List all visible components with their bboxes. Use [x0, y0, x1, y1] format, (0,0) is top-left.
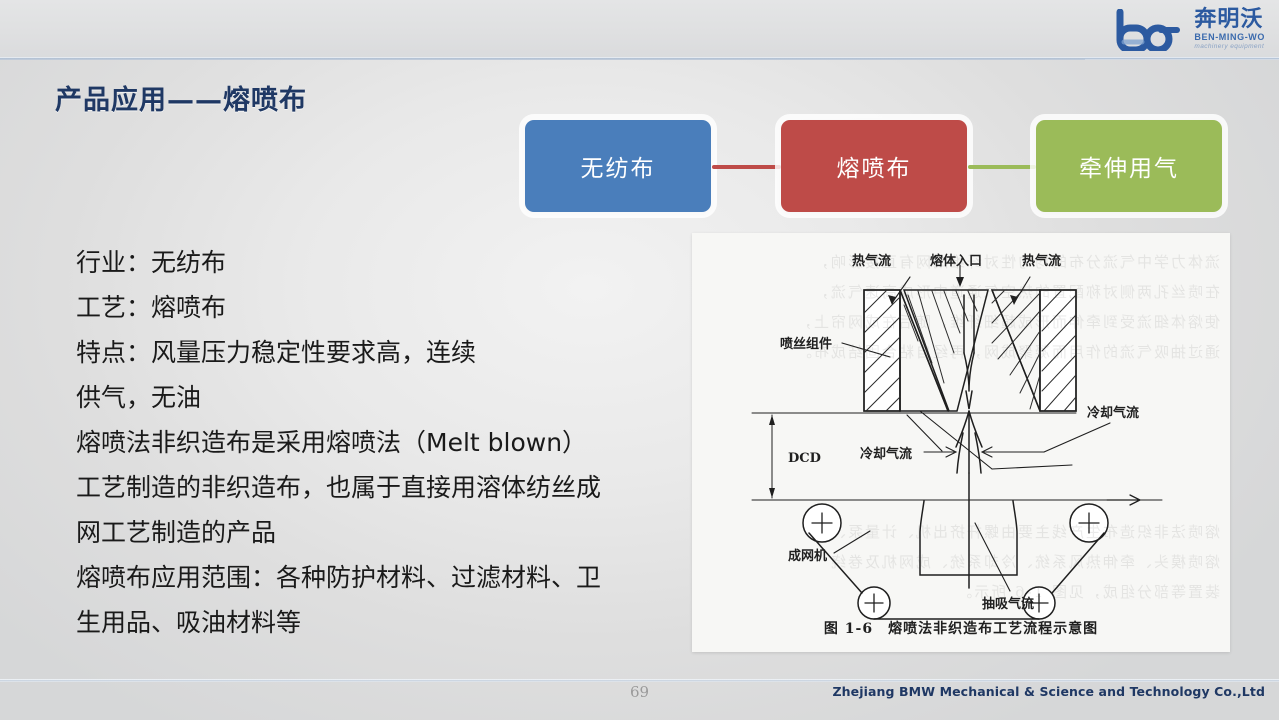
body-line: 熔喷法非织造布是采用熔喷法（Melt blown）	[76, 420, 676, 465]
logo-english-name: BEN-MING-WO	[1194, 33, 1265, 42]
label-spinneret: 喷丝组件	[780, 336, 832, 352]
body-line: 工艺制造的非织造布，也属于直接用溶体纺丝成	[76, 465, 676, 510]
label-cooling-air-left: 冷却气流	[860, 446, 912, 462]
company-name: Zhejiang BMW Mechanical & Science and Te…	[833, 684, 1265, 699]
footer-divider	[0, 679, 1279, 682]
process-flow-diagram: 无纺布 熔喷布 牵伸用气	[525, 120, 1225, 215]
body-line: 熔喷布应用范围：各种防护材料、过滤材料、卫	[76, 555, 676, 600]
body-line: 供气，无油	[76, 375, 676, 420]
logo-chinese-name: 奔明沃	[1194, 9, 1265, 31]
label-suction-air: 抽吸气流	[982, 596, 1034, 612]
flow-connector-2	[968, 165, 1036, 169]
flow-connector-1	[712, 165, 781, 169]
label-hot-air-left: 热气流	[852, 253, 891, 269]
body-line: 特点：风量压力稳定性要求高，连续	[76, 330, 676, 375]
body-line: 行业：无纺布	[76, 240, 676, 285]
body-text-block: 行业：无纺布 工艺：熔喷布 特点：风量压力稳定性要求高，连续 供气，无油 熔喷法…	[76, 240, 676, 645]
process-schematic: 热气流 熔体入口 热气流 喷丝组件 冷却气流 冷却气流 DCD 成网机 抽吸气流	[692, 233, 1230, 652]
header-divider-accent	[1085, 57, 1279, 60]
label-cooling-air-right: 冷却气流	[1087, 405, 1139, 421]
body-line: 工艺：熔喷布	[76, 285, 676, 330]
body-line: 网工艺制造的产品	[76, 510, 676, 555]
label-dcd: DCD	[788, 451, 821, 466]
flow-box-drawing-air[interactable]: 牵伸用气	[1036, 120, 1222, 212]
meltblown-process-figure: 流体力学中气流分布的均匀性对纤维成网有直接影响， 在喷丝孔两侧对称配置的热空气通…	[692, 233, 1230, 652]
label-web-former: 成网机	[788, 548, 827, 564]
company-logo: 奔明沃 BEN-MING-WO machinery equipment	[1085, 4, 1265, 56]
bo-logo-icon	[1114, 9, 1188, 51]
label-melt-inlet: 熔体入口	[930, 253, 982, 269]
logo-tagline: machinery equipment	[1194, 44, 1265, 51]
figure-caption: 图 1-6 熔喷法非织造布工艺流程示意图	[692, 618, 1230, 638]
label-hot-air-right: 热气流	[1022, 253, 1061, 269]
page-title: 产品应用——熔喷布	[55, 78, 307, 117]
body-line: 生用品、吸油材料等	[76, 600, 676, 645]
slide-canvas: 奔明沃 BEN-MING-WO machinery equipment 产品应用…	[0, 0, 1279, 720]
flow-box-nonwoven[interactable]: 无纺布	[525, 120, 711, 212]
flow-box-meltblown[interactable]: 熔喷布	[781, 120, 967, 212]
